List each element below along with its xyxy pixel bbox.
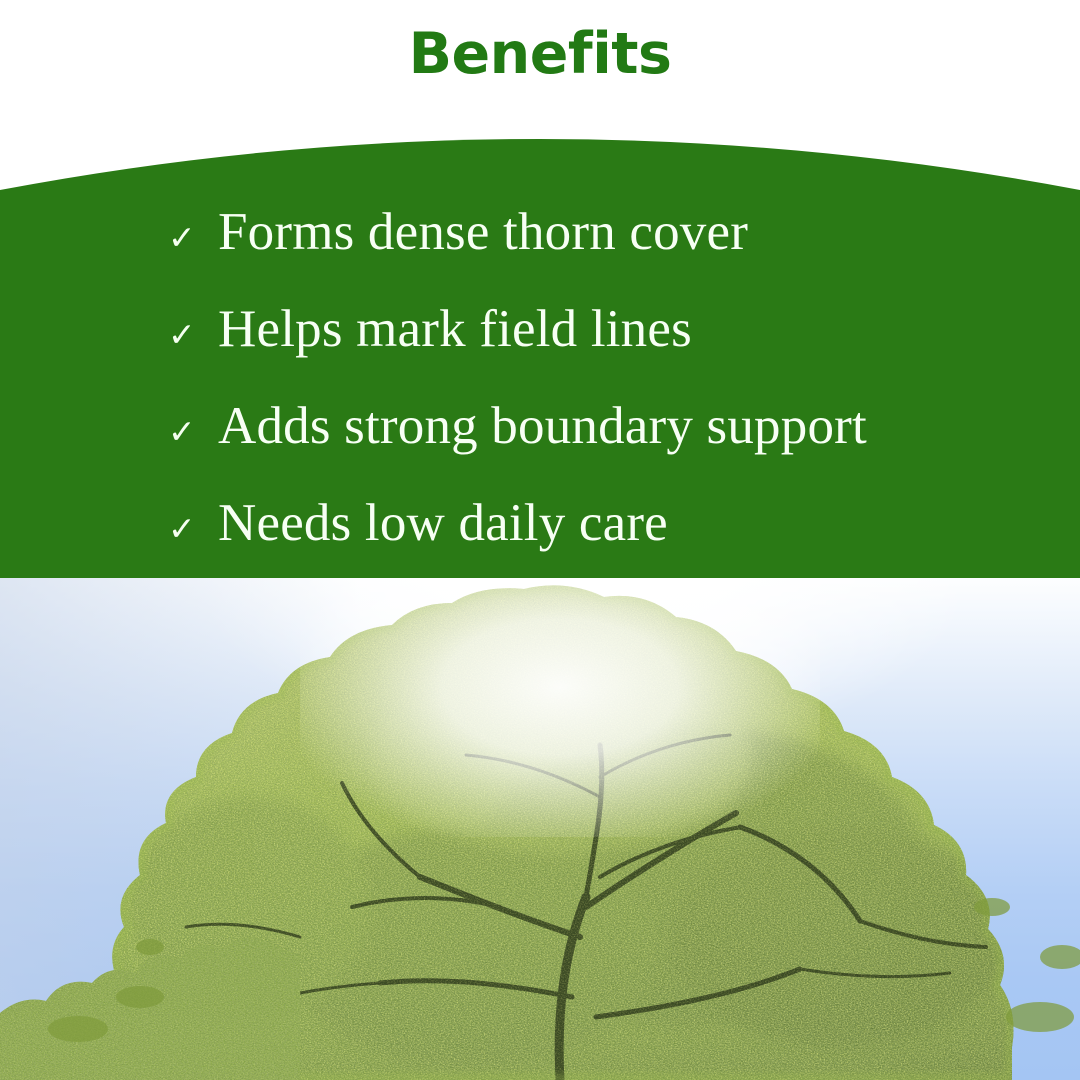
benefit-label: Helps mark field lines [218, 303, 692, 356]
check-icon: ✓ [168, 415, 218, 448]
benefits-infographic: ✓ Forms dense thorn cover ✓ Helps mark f… [0, 0, 1080, 1080]
header: Benefits [0, 0, 1080, 118]
check-icon: ✓ [168, 512, 218, 545]
benefit-item: ✓ Forms dense thorn cover [168, 206, 748, 259]
benefits-list: ✓ Forms dense thorn cover ✓ Helps mark f… [0, 110, 1080, 578]
benefit-label: Adds strong boundary support [218, 400, 867, 453]
benefit-item: ✓ Helps mark field lines [168, 303, 692, 356]
benefit-label: Needs low daily care [218, 497, 668, 550]
benefits-panel: ✓ Forms dense thorn cover ✓ Helps mark f… [0, 110, 1080, 578]
tree-canopy-illustration [0, 577, 1080, 1080]
benefit-item: ✓ Needs low daily care [168, 497, 668, 550]
page-title: Benefits [0, 26, 1080, 83]
tree-photo [0, 577, 1080, 1080]
benefit-label: Forms dense thorn cover [218, 206, 748, 259]
check-icon: ✓ [168, 318, 218, 351]
benefit-item: ✓ Adds strong boundary support [168, 400, 867, 453]
check-icon: ✓ [168, 221, 218, 254]
